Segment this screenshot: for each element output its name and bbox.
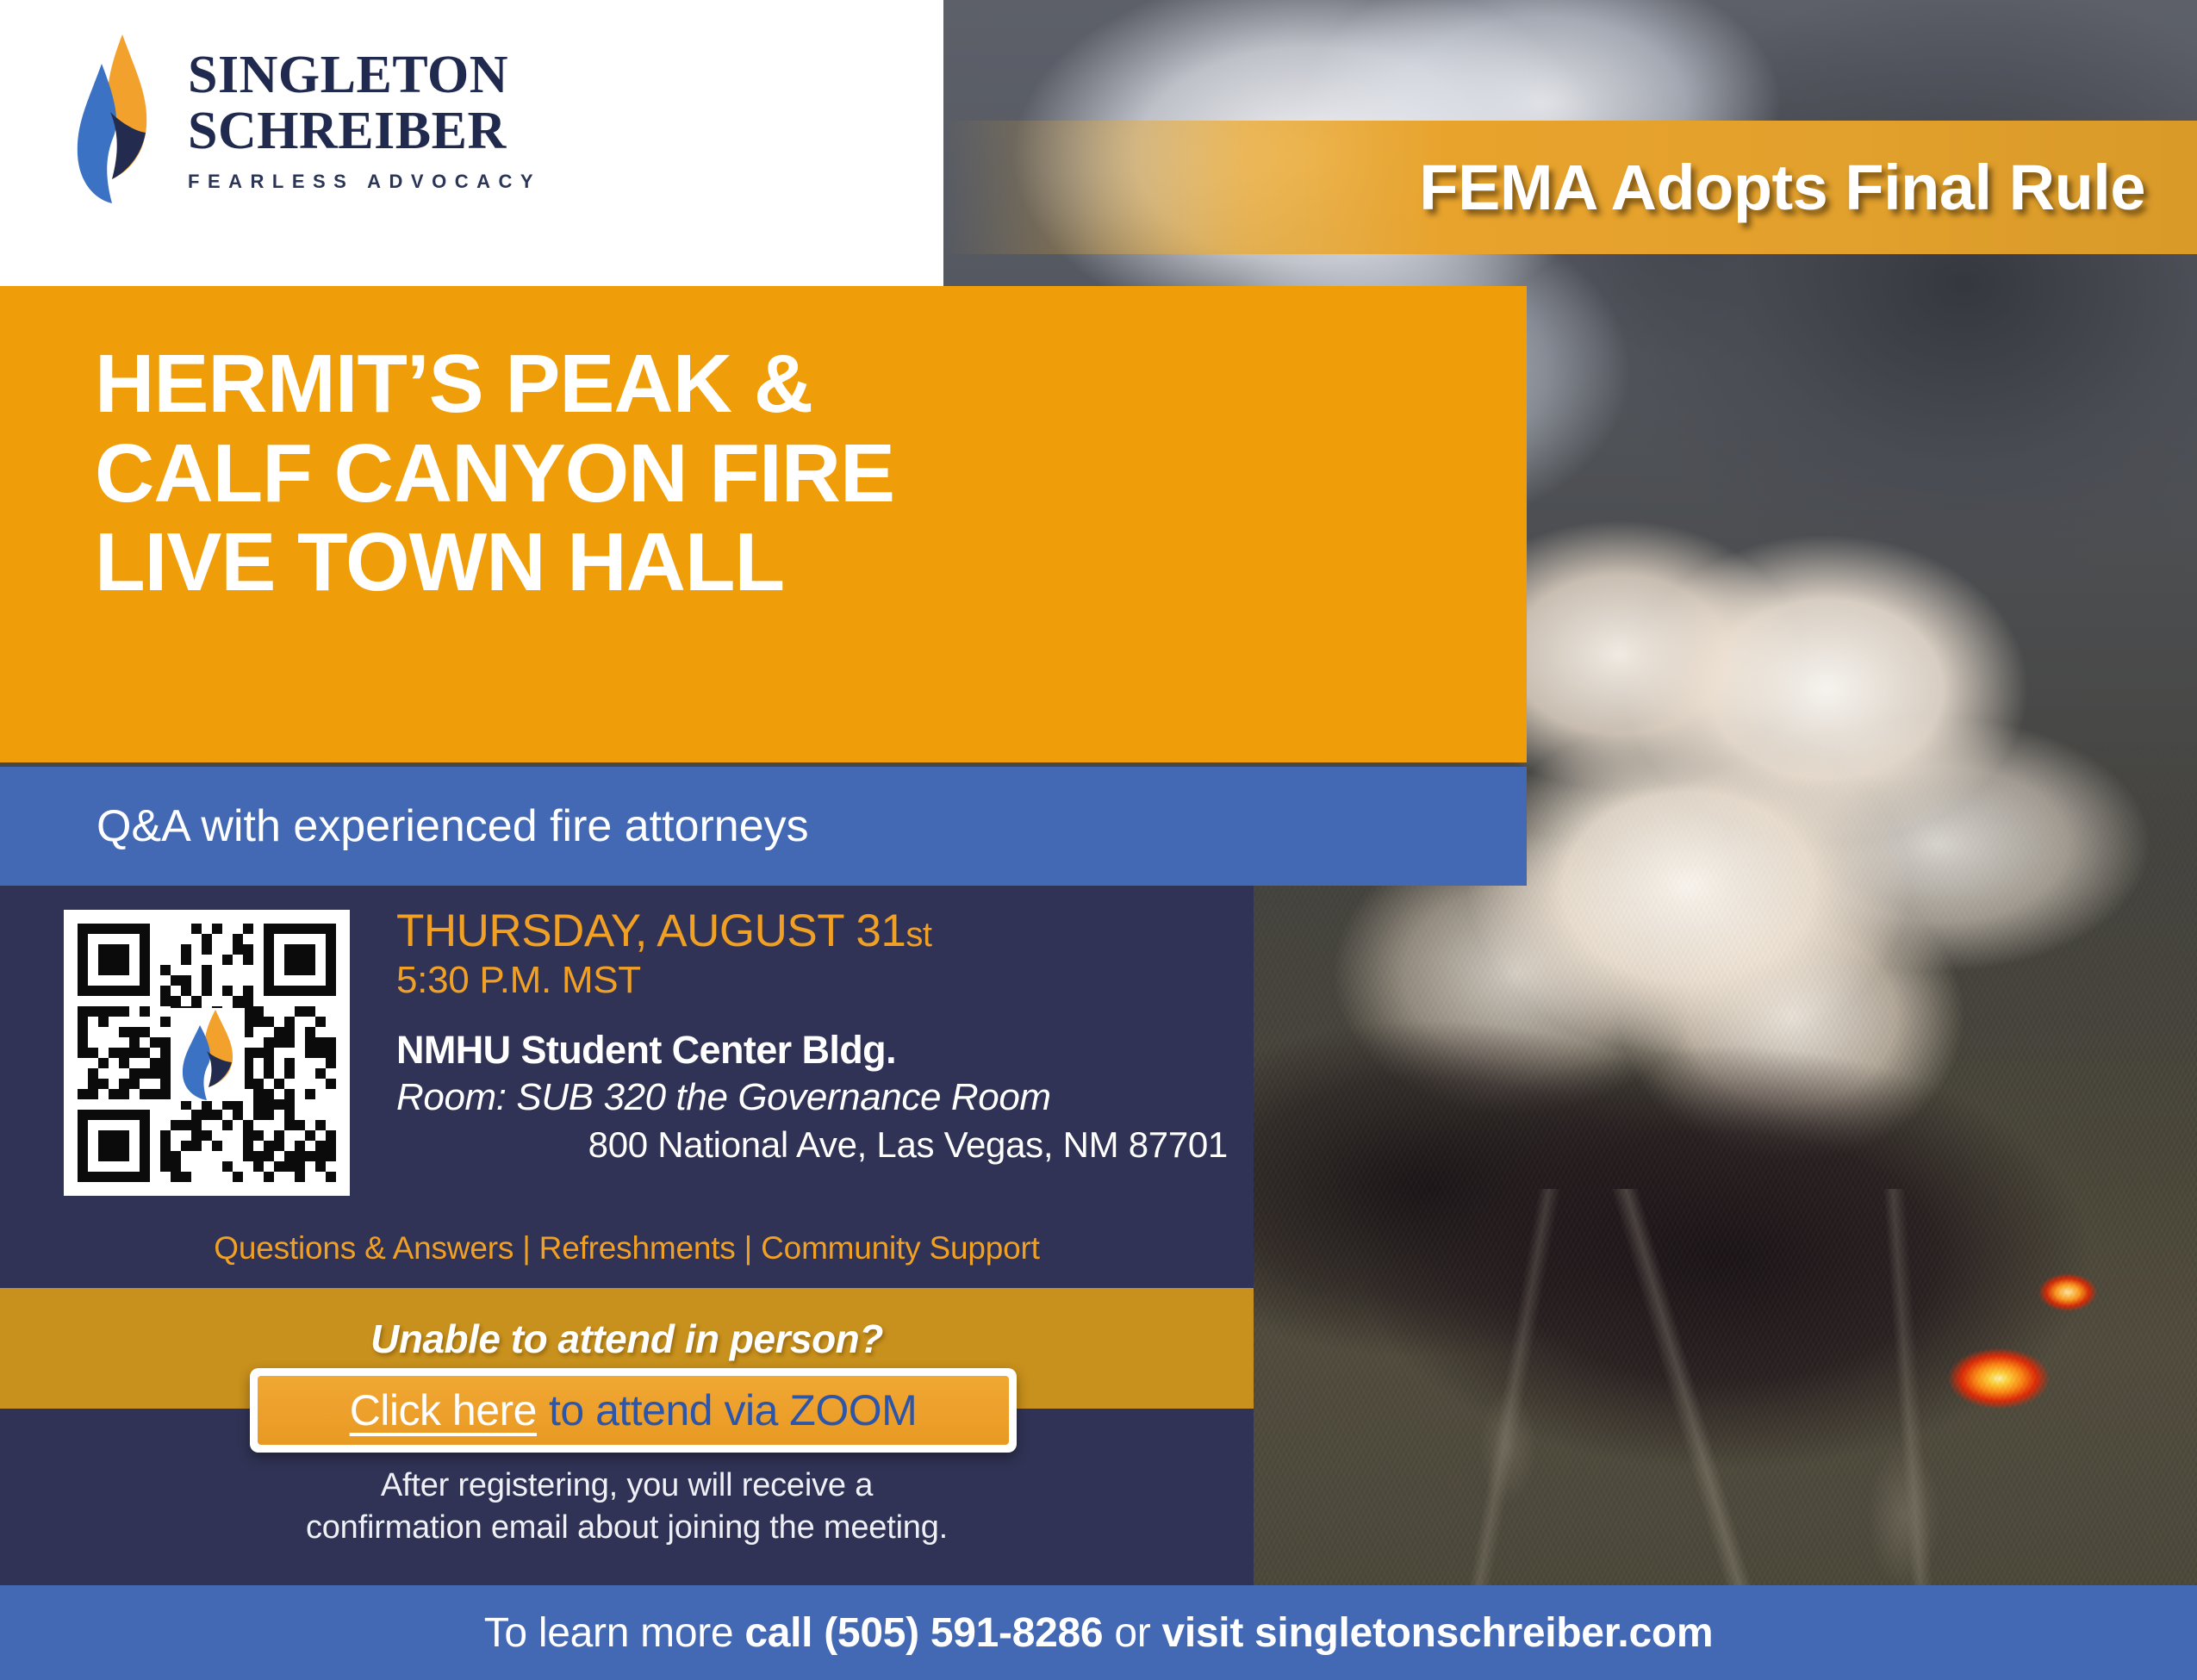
qr-code[interactable]: [64, 910, 350, 1196]
zoom-cta-link[interactable]: Click here: [350, 1385, 537, 1435]
event-text-block: THURSDAY, AUGUST 31st 5:30 P.M. MST NMHU…: [396, 906, 1228, 1166]
logo-line-2: SCHREIBER: [188, 106, 541, 157]
fema-ribbon: FEMA Adopts Final Rule: [943, 121, 2197, 254]
subtitle-text: Q&A with experienced fire attorneys: [96, 800, 809, 852]
brand-logo: SINGLETON SCHREIBER FEARLESS ADVOCACY: [62, 33, 541, 205]
registration-note-line-1: After registering, you will receive a: [0, 1465, 1254, 1507]
event-details-panel: THURSDAY, AUGUST 31st 5:30 P.M. MST NMHU…: [0, 886, 1254, 1288]
event-address: 800 National Ave, Las Vegas, NM 87701: [396, 1124, 1228, 1166]
event-venue: NMHU Student Center Bldg.: [396, 1028, 1228, 1073]
brand-wordmark: SINGLETON SCHREIBER FEARLESS ADVOCACY: [188, 45, 541, 193]
footer-phone[interactable]: call (505) 591‑8286: [744, 1610, 1103, 1656]
qr-code-matrix: [78, 924, 336, 1182]
registration-note-line-2: confirmation email about joining the mee…: [0, 1507, 1254, 1549]
zoom-cta-button[interactable]: Click here to attend via ZOOM: [250, 1368, 1017, 1453]
logo-bar: SINGLETON SCHREIBER FEARLESS ADVOCACY: [0, 0, 943, 286]
event-date: THURSDAY, AUGUST 31st: [396, 906, 1228, 955]
event-date-suffix: st: [906, 916, 931, 954]
event-room: Room: SUB 320 the Governance Room: [396, 1076, 1228, 1119]
fema-ribbon-text: FEMA Adopts Final Rule: [1419, 151, 2145, 224]
event-amenities: Questions & Answers | Refreshments | Com…: [0, 1230, 1254, 1266]
event-date-main: THURSDAY, AUGUST 31: [396, 905, 906, 956]
logo-line-1: SINGLETON: [188, 50, 541, 101]
registration-note: After registering, you will receive a co…: [0, 1465, 1254, 1548]
flame-icon: [62, 33, 162, 205]
logo-tagline: FEARLESS ADVOCACY: [188, 171, 541, 193]
qr-center-flame-icon: [171, 1008, 245, 1101]
zoom-cta-rest: to attend via ZOOM: [549, 1385, 917, 1435]
footer-lead: To learn more: [484, 1610, 745, 1656]
flyer-canvas: SINGLETON SCHREIBER FEARLESS ADVOCACY FE…: [0, 0, 2197, 1680]
footer-website[interactable]: visit singletonschreiber.com: [1161, 1610, 1713, 1656]
virtual-attend-prompt: Unable to attend in person?: [0, 1316, 1254, 1362]
event-time: 5:30 P.M. MST: [396, 959, 1228, 1002]
headline-line-1: HERMIT’S PEAK &: [95, 339, 1527, 429]
headline-block: HERMIT’S PEAK & CALF CANYON FIRE LIVE TO…: [0, 286, 1527, 762]
zoom-cta-inner[interactable]: Click here to attend via ZOOM: [258, 1376, 1009, 1445]
footer-bar: To learn more call (505) 591‑8286 or vis…: [0, 1585, 2197, 1680]
footer-middle: or: [1103, 1610, 1161, 1656]
subtitle-band: Q&A with experienced fire attorneys: [0, 767, 1527, 886]
headline-line-3: LIVE TOWN HALL: [95, 518, 1527, 607]
footer-text: To learn more call (505) 591‑8286 or vis…: [484, 1609, 1714, 1657]
headline-line-2: CALF CANYON FIRE: [95, 429, 1527, 519]
